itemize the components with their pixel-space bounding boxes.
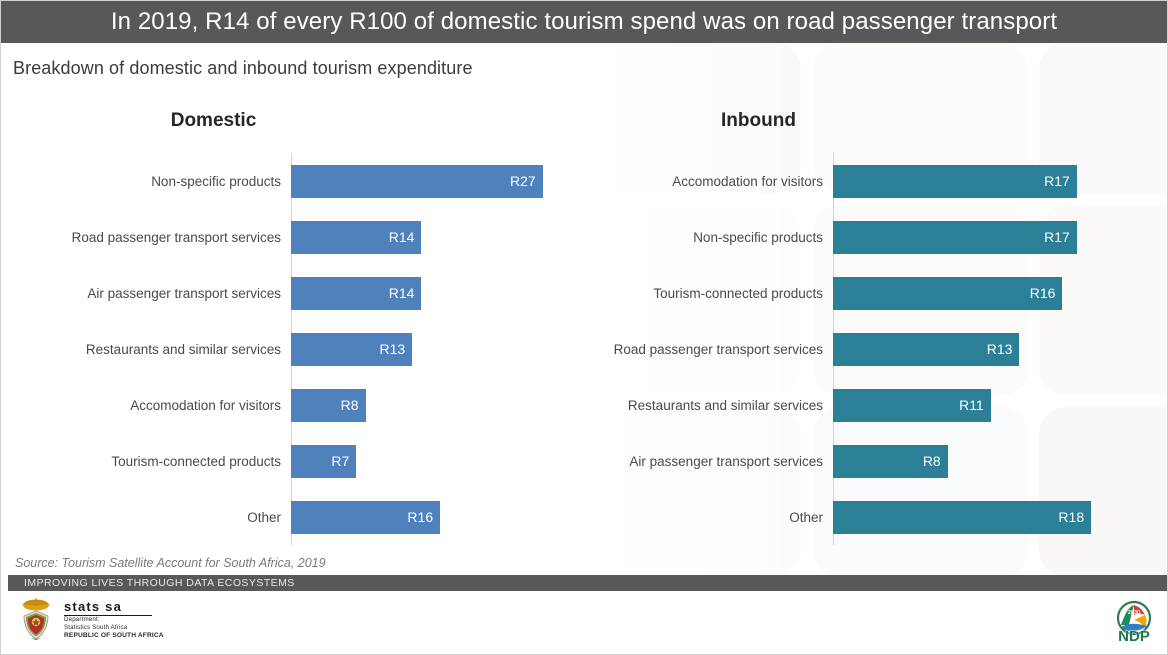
statssa-wordmark: stats sa	[64, 599, 152, 616]
category-label: Non-specific products	[586, 230, 833, 245]
category-label: Non-specific products	[1, 174, 291, 189]
category-label: Other	[1, 510, 291, 525]
bar-row: Tourism-connected products R16	[586, 265, 1168, 321]
bar-row: Non-specific products R27	[1, 153, 581, 209]
bar-value-label: R18	[1058, 509, 1084, 525]
category-label: Accomodation for visitors	[1, 398, 291, 413]
category-label: Road passenger transport services	[1, 230, 291, 245]
subtitle: Breakdown of domestic and inbound touris…	[13, 58, 473, 79]
bar-value-label: R11	[959, 397, 984, 413]
bar[interactable]: R27	[291, 165, 543, 198]
bar[interactable]: R11	[833, 389, 991, 422]
bar[interactable]: R14	[291, 221, 421, 254]
statssa-country-line: REPUBLIC OF SOUTH AFRICA	[64, 632, 164, 640]
bar-value-label: R13	[379, 341, 405, 357]
bar-value-label: R17	[1044, 173, 1070, 189]
tagline-bar: IMPROVING LIVES THROUGH DATA ECOSYSTEMS	[8, 575, 1167, 591]
slide-canvas: In 2019, R14 of every R100 of domestic t…	[0, 0, 1168, 655]
bar[interactable]: R13	[291, 333, 412, 366]
bar[interactable]: R14	[291, 277, 421, 310]
plot-area-domestic: Non-specific products R27 Road passenger…	[1, 153, 581, 545]
ndp-year-text: 2030	[1128, 610, 1140, 616]
category-label: Tourism-connected products	[1, 454, 291, 469]
statssa-org-line: Statistics South Africa	[64, 624, 164, 632]
bar-value-label: R17	[1044, 229, 1070, 245]
bar-row: Air passenger transport services R8	[586, 433, 1168, 489]
bar-row: Accomodation for visitors R8	[1, 377, 581, 433]
category-label: Road passenger transport services	[586, 342, 833, 357]
bar-row: Tourism-connected products R7	[1, 433, 581, 489]
bar[interactable]: R17	[833, 221, 1077, 254]
bar-row: Accomodation for visitors R17	[586, 153, 1168, 209]
bar[interactable]: R16	[291, 501, 440, 534]
statssa-wordmark-block: stats sa Department: Statistics South Af…	[64, 599, 164, 640]
category-label: Tourism-connected products	[586, 286, 833, 301]
category-label: Restaurants and similar services	[586, 398, 833, 413]
category-label: Air passenger transport services	[586, 454, 833, 469]
chart-title-domestic: Domestic	[1, 109, 581, 137]
bar-value-label: R16	[407, 509, 433, 525]
bar[interactable]: R7	[291, 445, 356, 478]
bar-value-label: R14	[389, 229, 415, 245]
bar-value-label: R14	[389, 285, 415, 301]
page-title: In 2019, R14 of every R100 of domestic t…	[111, 8, 1057, 36]
bar-row: Restaurants and similar services R11	[586, 377, 1168, 433]
category-label: Other	[586, 510, 833, 525]
footer: stats sa Department: Statistics South Af…	[1, 591, 1167, 654]
bar-row: Other R18	[586, 489, 1168, 545]
coat-of-arms-icon	[17, 595, 55, 643]
bar-row: Road passenger transport services R14	[1, 209, 581, 265]
chart-panel-domestic: Domestic Non-specific products R27 Road …	[1, 109, 581, 545]
bar-value-label: R27	[510, 173, 536, 189]
bar-value-label: R16	[1030, 285, 1056, 301]
bar-row: Air passenger transport services R14	[1, 265, 581, 321]
bar-value-label: R8	[341, 397, 359, 413]
bar-value-label: R13	[987, 341, 1013, 357]
bar[interactable]: R13	[833, 333, 1019, 366]
bar[interactable]: R17	[833, 165, 1077, 198]
bar-row: Road passenger transport services R13	[586, 321, 1168, 377]
tagline-text: IMPROVING LIVES THROUGH DATA ECOSYSTEMS	[8, 577, 295, 589]
statssa-dept-line: Department:	[64, 616, 164, 624]
ndp-acronym-text: NDP	[1118, 628, 1150, 645]
bar-row: Restaurants and similar services R13	[1, 321, 581, 377]
bar[interactable]: R8	[291, 389, 366, 422]
header-banner: In 2019, R14 of every R100 of domestic t…	[1, 1, 1167, 43]
category-label: Accomodation for visitors	[586, 174, 833, 189]
chart-title-inbound: Inbound	[586, 109, 1168, 137]
category-label: Restaurants and similar services	[1, 342, 291, 357]
category-label: Air passenger transport services	[1, 286, 291, 301]
bar-row: Other R16	[1, 489, 581, 545]
chart-panel-inbound: Inbound Accomodation for visitors R17 No…	[586, 109, 1168, 545]
bar[interactable]: R16	[833, 277, 1062, 310]
bar[interactable]: R8	[833, 445, 948, 478]
ndp-logo-icon: 2030 NDP	[1109, 599, 1159, 645]
bar-value-label: R7	[331, 453, 349, 469]
statssa-logo: stats sa Department: Statistics South Af…	[17, 595, 164, 643]
bar-value-label: R8	[923, 453, 941, 469]
bar-row: Non-specific products R17	[586, 209, 1168, 265]
plot-area-inbound: Accomodation for visitors R17 Non-specif…	[586, 153, 1168, 545]
bar[interactable]: R18	[833, 501, 1091, 534]
source-note: Source: Tourism Satellite Account for So…	[15, 556, 326, 570]
